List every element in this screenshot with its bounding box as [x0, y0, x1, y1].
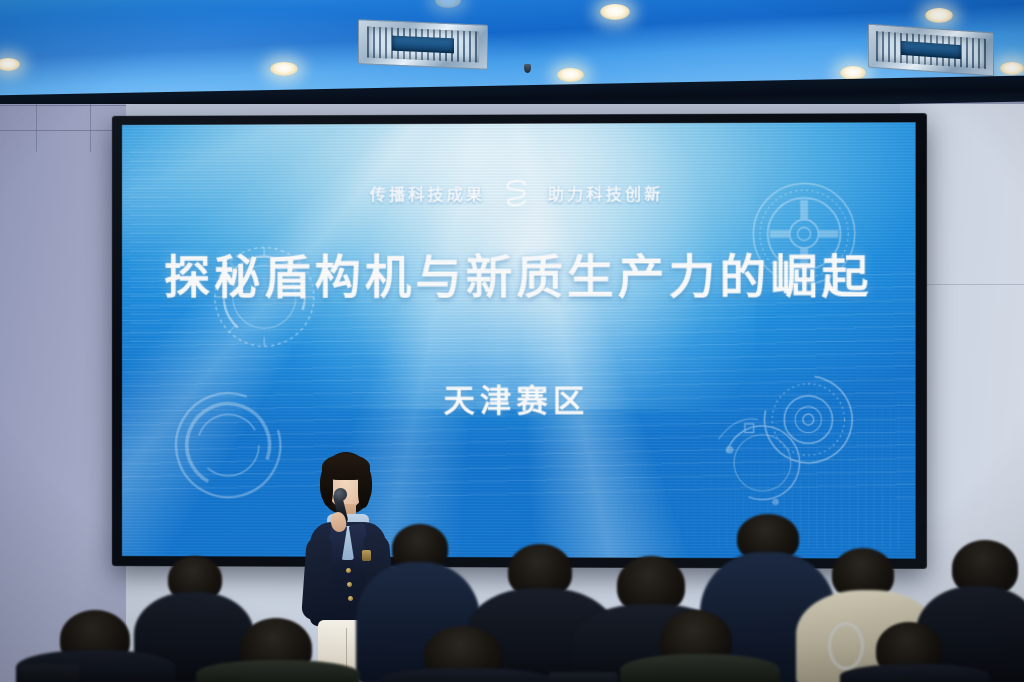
audience-person — [620, 654, 780, 682]
audience-person — [380, 668, 550, 682]
audience-person — [840, 664, 990, 682]
presenter-hair-side-left — [321, 464, 333, 506]
tech-circles-decoration — [714, 363, 867, 515]
slide-banner: 传播科技成果 助力科技创新 — [122, 175, 916, 211]
slide-title: 探秘盾构机与新质生产力的崛起 — [122, 240, 916, 307]
led-scanline-texture — [122, 122, 916, 558]
fire-sprinkler — [524, 64, 531, 73]
ceiling-downlight — [557, 68, 584, 82]
led-screen[interactable]: 传播科技成果 助力科技创新 探秘盾构机与新质生产力的崛起 天津赛区 — [122, 122, 916, 558]
slide-vertical-grid — [580, 349, 900, 550]
ceiling-downlight — [600, 4, 630, 20]
banner-text-right: 助力科技创新 — [548, 180, 664, 204]
presenter-hair-side-right — [358, 464, 371, 508]
led-screen-bezel: 传播科技成果 助力科技创新 探秘盾构机与新质生产力的崛起 天津赛区 — [112, 113, 927, 569]
title-tech-ring-decoration — [208, 241, 320, 353]
s-serpentine-logo-icon — [499, 176, 533, 210]
slide-subtitle: 天津赛区 — [122, 375, 916, 421]
ceiling-downlight — [925, 8, 953, 23]
ceiling-downlight — [270, 62, 298, 76]
chair-back — [548, 672, 618, 682]
slide-light-rays — [122, 122, 916, 558]
audience-person — [196, 660, 360, 682]
hvac-vent — [868, 24, 994, 77]
slide-horizontal-lines — [122, 271, 916, 498]
slide-left-stripes — [130, 150, 319, 349]
cutterhead-gear-decoration — [749, 179, 859, 288]
bag-strap — [828, 622, 864, 670]
ceiling-downlight — [1000, 62, 1024, 75]
hvac-vent — [358, 19, 488, 70]
conference-hall-photo: 传播科技成果 助力科技创新 探秘盾构机与新质生产力的崛起 天津赛区 — [0, 0, 1024, 682]
audience — [0, 522, 1024, 682]
banner-text-left: 传播科技成果 — [370, 181, 485, 205]
tech-ring-decoration — [169, 386, 287, 504]
chair-back — [20, 664, 80, 682]
slide-center-glow — [295, 122, 755, 410]
